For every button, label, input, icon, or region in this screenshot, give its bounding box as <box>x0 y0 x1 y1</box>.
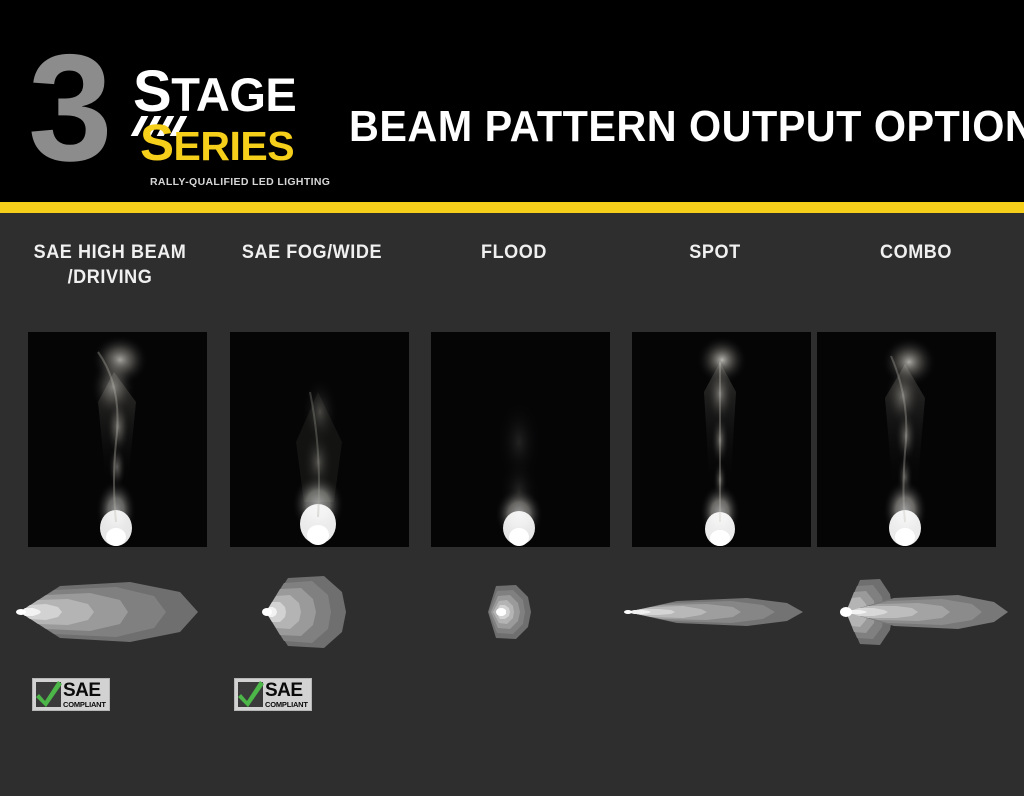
column-header-sae-fog-wide: SAE FOG/WIDE <box>214 240 410 265</box>
check-icon <box>236 677 266 710</box>
beam-diagram-flood <box>416 566 612 658</box>
logo-word-series: SERIES <box>140 122 294 167</box>
sae-badge-subtitle: COMPLIANT <box>63 701 106 709</box>
beam-photo-spot <box>632 332 811 547</box>
sae-badge-text: SAE COMPLIANT <box>265 681 308 709</box>
logo-series-capital: S <box>140 114 174 171</box>
beam-photo-flood <box>431 332 610 547</box>
logo-numeral-3: 3 <box>28 32 107 184</box>
logo-word-stage: STAGE <box>133 68 296 118</box>
check-icon <box>34 677 64 710</box>
beam-diagram-spot <box>617 566 813 658</box>
beam-diagram-combo <box>818 566 1014 658</box>
column-header-combo: COMBO <box>818 240 1014 265</box>
infographic-page: 3 STAGE SERIES RALLY-QUALIFIED LED LIGHT… <box>0 0 1024 796</box>
sae-badge-title: SAE <box>265 681 308 700</box>
column-header-flood: FLOOD <box>416 240 612 265</box>
logo-series-rest: ERIES <box>174 123 295 169</box>
beam-diagram-sae-fog-wide <box>214 566 410 658</box>
sae-badge-title: SAE <box>63 681 106 700</box>
column-header-spot: SPOT <box>617 240 813 265</box>
column-label: COMBO <box>823 240 1009 265</box>
column-header-sae-high-beam-driving: SAE HIGH BEAM /DRIVING <box>12 240 208 290</box>
page-title: BEAM PATTERN OUTPUT OPTIONS <box>349 104 969 150</box>
logo-tagline: RALLY-QUALIFIED LED LIGHTING <box>150 176 330 188</box>
sae-compliant-badge-sae-fog-wide: SAE COMPLIANT <box>234 678 312 711</box>
sae-check-box <box>36 682 61 707</box>
column-label: SAE HIGH BEAM /DRIVING <box>17 240 203 290</box>
logo-stage-rest: TAGE <box>171 68 296 121</box>
yellow-accent-divider <box>0 202 1024 213</box>
sae-badge-subtitle: COMPLIANT <box>265 701 308 709</box>
beam-photo-sae-high-beam-driving <box>28 332 207 547</box>
column-label: SAE FOG/WIDE <box>219 240 405 265</box>
beam-photo-sae-fog-wide <box>230 332 409 547</box>
header-bar: 3 STAGE SERIES RALLY-QUALIFIED LED LIGHT… <box>0 0 1024 202</box>
stage-series-logo: 3 STAGE SERIES RALLY-QUALIFIED LED LIGHT… <box>28 38 328 163</box>
sae-compliant-badge-sae-high-beam-driving: SAE COMPLIANT <box>32 678 110 711</box>
beam-photo-combo <box>817 332 996 547</box>
column-label: FLOOD <box>421 240 607 265</box>
sae-check-box <box>238 682 263 707</box>
column-label: SPOT <box>622 240 808 265</box>
sae-badge-text: SAE COMPLIANT <box>63 681 106 709</box>
beam-diagram-sae-high-beam-driving <box>12 566 208 658</box>
